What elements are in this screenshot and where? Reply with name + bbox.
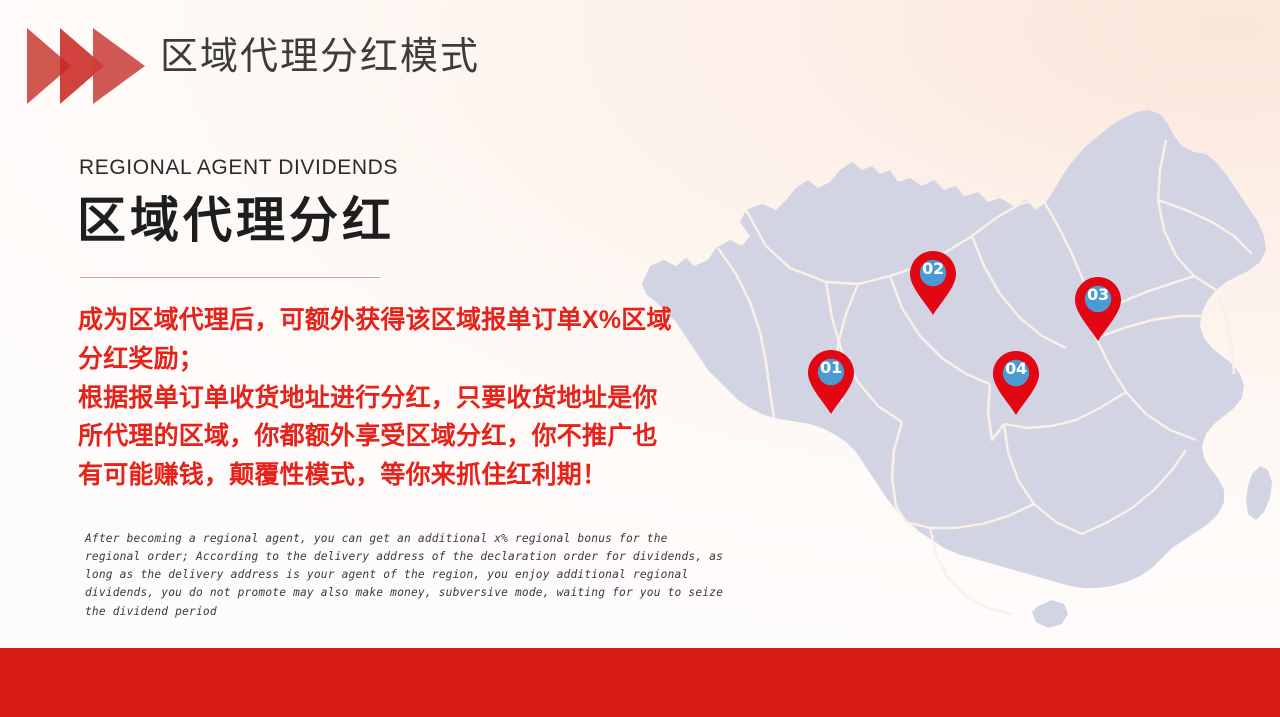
body-copy-line: 分红奖励； bbox=[78, 340, 738, 379]
footer-bar bbox=[0, 648, 1280, 717]
body-copy-line: 所代理的区域，你都额外享受区域分红，你不推广也 bbox=[78, 417, 738, 456]
body-copy-line: 根据报单订单收货地址进行分红，只要收货地址是你 bbox=[78, 379, 738, 418]
map-pin-03[interactable]: 03 bbox=[1074, 276, 1122, 342]
map-pin-label: 03 bbox=[1074, 285, 1122, 304]
province-borders bbox=[718, 140, 1252, 614]
slide-canvas: 区域代理分红模式 bbox=[0, 0, 1280, 717]
title-divider bbox=[80, 277, 380, 278]
body-copy-line: 有可能赚钱，颠覆性模式，等你来抓住红利期！ bbox=[78, 456, 738, 495]
map-pin-01[interactable]: 01 bbox=[807, 349, 855, 415]
english-note: After becoming a regional agent, you can… bbox=[85, 530, 725, 621]
triple-triangle-play-icon bbox=[27, 28, 145, 104]
map-pin-04[interactable]: 04 bbox=[992, 350, 1040, 416]
section-eyebrow: REGIONAL AGENT DIVIDENDS bbox=[79, 156, 398, 180]
map-pin-label: 01 bbox=[807, 358, 855, 377]
map-pin-label: 04 bbox=[992, 359, 1040, 378]
triangle-shape-3 bbox=[93, 28, 145, 104]
page-title: 区域代理分红 bbox=[77, 193, 395, 249]
map-pin-02[interactable]: 02 bbox=[909, 250, 957, 316]
body-copy-line: 成为区域代理后，可额外获得该区域报单订单X%区域 bbox=[78, 301, 738, 340]
body-copy: 成为区域代理后，可额外获得该区域报单订单X%区域 分红奖励； 根据报单订单收货地… bbox=[78, 301, 738, 495]
header-title: 区域代理分红模式 bbox=[160, 38, 480, 76]
map-pin-label: 02 bbox=[909, 259, 957, 278]
